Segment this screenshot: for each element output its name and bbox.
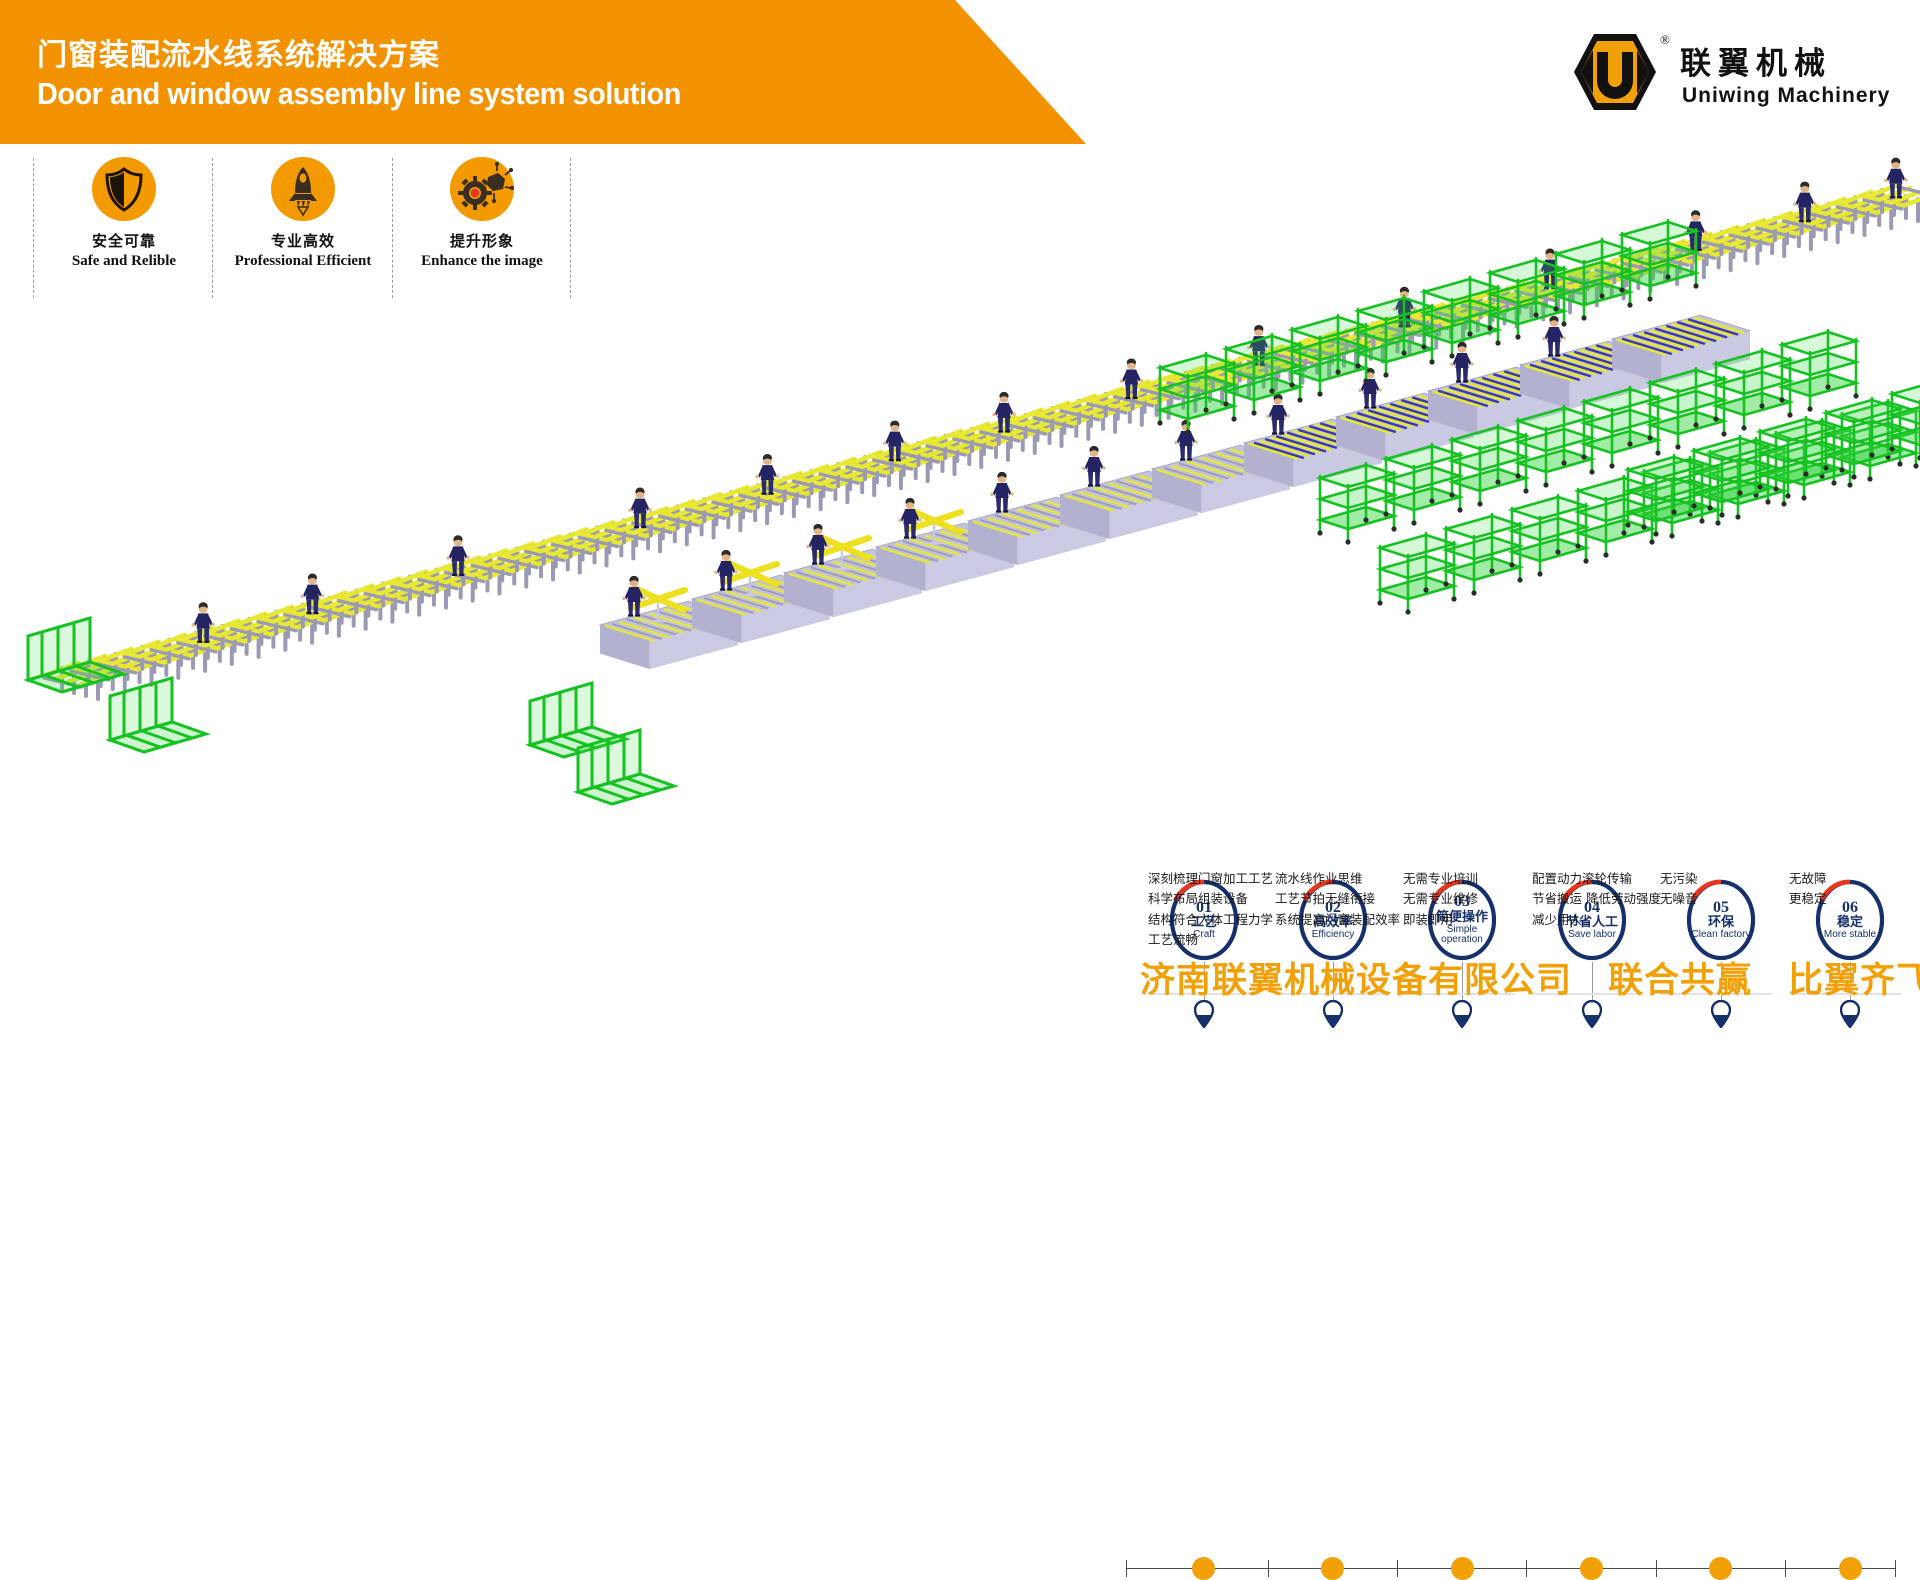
axis-tick — [1895, 1560, 1896, 1577]
benefit-number: 05 — [1713, 900, 1729, 917]
benefit-title-en: More stable — [1824, 930, 1876, 941]
poster-canvas: 门窗装配流水线系统解决方案 Door and window assembly l… — [0, 0, 1920, 1080]
benefit-detail-line: 即装即用 — [1403, 910, 1478, 930]
axis-dot — [1580, 1557, 1603, 1580]
benefit-detail-line: 科学布局组装设备 — [1148, 889, 1273, 909]
axis-tick — [1268, 1560, 1269, 1577]
benefit-detail-line: 无噪音 — [1660, 889, 1698, 909]
benefit-detail-line: 流水线作业思维 — [1275, 869, 1400, 889]
axis-dot — [1321, 1557, 1344, 1580]
benefit-detail-line: 节省搬运 降低劳动强度 — [1532, 889, 1661, 909]
benefit-detail-01: 深刻梳理门窗加工工艺科学布局组装设备结构符合人体工程力学工艺流畅 — [1148, 869, 1273, 950]
map-pin-icon — [1323, 1000, 1343, 1028]
uniwing-hexagon-icon — [1572, 32, 1658, 112]
axis-tick — [1397, 1560, 1398, 1577]
benefit-detail-line: 工艺节拍无缝衔接 — [1275, 889, 1400, 909]
benefit-detail-line: 深刻梳理门窗加工工艺 — [1148, 869, 1273, 889]
benefit-detail-line: 配置动力滚轮传输 — [1532, 869, 1661, 889]
benefit-title-en: Efficiency — [1312, 930, 1355, 941]
map-pin-icon — [1840, 1000, 1860, 1028]
brand-logo: ® 联翼机械 Uniwing Machinery — [1572, 32, 1902, 118]
axis-tick — [1126, 1560, 1127, 1577]
axis-tick — [1785, 1560, 1786, 1577]
page-title-cn: 门窗装配流水线系统解决方案 — [37, 30, 440, 74]
benefit-detail-line: 无需专业维修 — [1403, 889, 1478, 909]
axis-tick — [1656, 1560, 1657, 1577]
benefit-detail-line: 更稳定 — [1789, 889, 1827, 909]
benefit-detail-line: 减少用人 — [1532, 910, 1661, 930]
axis-tick — [1526, 1560, 1527, 1577]
axis-dot — [1839, 1557, 1862, 1580]
benefit-detail-line: 结构符合人体工程力学 — [1148, 910, 1273, 930]
benefit-title-en: Save labor — [1568, 930, 1616, 941]
benefit-number: 06 — [1842, 900, 1858, 917]
benefit-detail-04: 配置动力滚轮传输节省搬运 降低劳动强度减少用人 — [1532, 869, 1661, 930]
benefit-detail-06: 无故障更稳定 — [1789, 869, 1827, 910]
benefit-detail-line: 无故障 — [1789, 869, 1827, 889]
axis-dot — [1192, 1557, 1215, 1580]
axis-dot — [1709, 1557, 1732, 1580]
benefit-detail-03: 无需专业培训无需专业维修即装即用 — [1403, 869, 1478, 930]
benefit-detail-line: 工艺流畅 — [1148, 930, 1273, 950]
end-racks-group — [28, 618, 674, 804]
logo-name-en: Uniwing Machinery — [1682, 84, 1890, 108]
benefit-title-cn: 稳定 — [1837, 916, 1863, 930]
map-pin-icon — [1711, 1000, 1731, 1028]
axis-dot — [1451, 1557, 1474, 1580]
map-pin-icon — [1452, 1000, 1472, 1028]
benefit-title-cn: 环保 — [1708, 916, 1734, 930]
benefit-detail-line: 无污染 — [1660, 869, 1698, 889]
benefit-title-en: Clean factory — [1692, 930, 1751, 941]
logo-name-cn: 联翼机械 — [1680, 38, 1832, 83]
map-pin-icon — [1582, 1000, 1602, 1028]
benefit-detail-05: 无污染无噪音 — [1660, 869, 1698, 910]
timeline-axis — [1126, 1568, 1896, 1569]
page-title-en: Door and window assembly line system sol… — [37, 76, 681, 112]
map-pin-icon — [1194, 1000, 1214, 1028]
benefit-detail-02: 流水线作业思维工艺节拍无缝衔接系统提高门窗装配效率 — [1275, 869, 1400, 930]
registered-mark-icon: ® — [1660, 32, 1670, 48]
benefit-detail-line: 无需专业培训 — [1403, 869, 1478, 889]
company-slogan: 济南联翼机械设备有限公司 联合共赢 比翼齐飞 — [1140, 952, 1920, 1003]
benefit-detail-line: 系统提高门窗装配效率 — [1275, 910, 1400, 930]
